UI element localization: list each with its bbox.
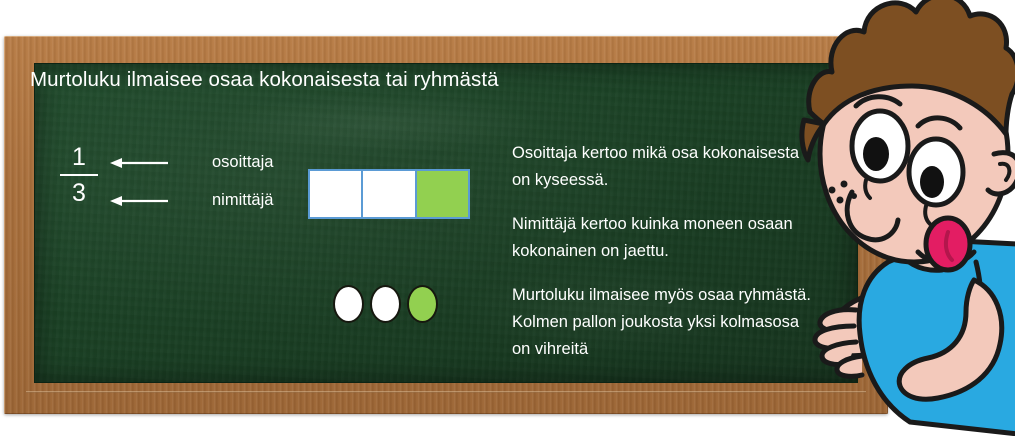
fraction-one-third: 1 3 [56, 142, 102, 208]
boy-mouth [918, 252, 974, 264]
denominator-label: nimittäjä [212, 191, 273, 210]
fraction-numerator: 1 [56, 142, 102, 172]
left-arrow-icon [108, 156, 170, 170]
boy-neck [896, 226, 946, 270]
fraction-set-model [333, 285, 438, 323]
explanation-list: Osoittaja kertoo mikä osa kokonaisesta o… [512, 140, 812, 380]
boy-eye-right [909, 139, 963, 205]
boy-ear-inner [1000, 164, 1009, 180]
left-arrow-icon [108, 194, 170, 208]
fraction-bar-model [308, 169, 470, 219]
chalk-smudge [215, 94, 545, 154]
boy-eyebrow-right [918, 118, 960, 128]
boy-tongue-crease [946, 232, 952, 260]
set-circle-empty [333, 285, 364, 323]
numerator-label: osoittaja [212, 153, 273, 172]
boy-sleeve-line [970, 262, 981, 346]
numerator-callout: osoittaja [108, 153, 273, 172]
boy-tongue [926, 218, 970, 270]
board-title: Murtoluku ilmaisee osaa kokonaisesta tai… [30, 68, 499, 92]
boy-freckle [927, 229, 933, 235]
bar-cell-filled [415, 169, 470, 219]
bar-cell-empty [308, 169, 363, 219]
fraction-divider-line [60, 174, 98, 176]
bar-cell-empty [361, 169, 416, 219]
explanation-set-model: Murtoluku ilmaisee myös osaa ryhmästä. K… [512, 282, 812, 363]
set-circle-empty [370, 285, 401, 323]
boy-pupil-right [920, 166, 944, 198]
denominator-callout: nimittäjä [108, 191, 273, 210]
chalkboard-bottom-rail [26, 391, 866, 393]
explanation-denominator: Nimittäjä kertoo kuinka moneen osaan kok… [512, 211, 812, 265]
fraction-denominator: 3 [56, 178, 102, 208]
boy-right-arm [899, 280, 1001, 399]
boy-ear [988, 153, 1015, 194]
boy-eyelash [925, 206, 930, 224]
explanation-numerator: Osoittaja kertoo mikä osa kokonaisesta o… [512, 140, 812, 194]
set-circle-filled [407, 285, 438, 323]
